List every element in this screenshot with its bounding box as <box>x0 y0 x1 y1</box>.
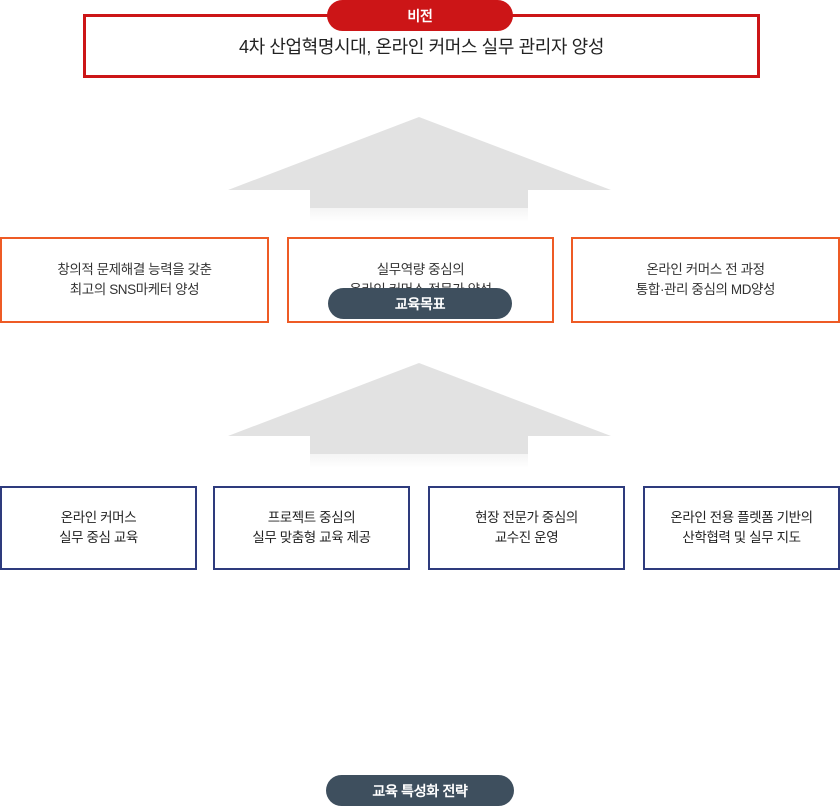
strategy-card-line: 프로젝트 중심의 <box>268 508 356 528</box>
vision-badge-label: 비전 <box>407 6 432 26</box>
strategy-card: 프로젝트 중심의 실무 맞춤형 교육 제공 <box>213 486 410 570</box>
arrow-strategy-badge-label: 교육 특성화 전략 <box>372 781 467 801</box>
vision-badge: 비전 <box>327 0 513 31</box>
strategy-card: 현장 전문가 중심의 교수진 운영 <box>428 486 625 570</box>
strategy-card: 온라인 전용 플렛폼 기반의 산학협력 및 실무 지도 <box>643 486 840 570</box>
vision-section: 4차 산업혁명시대, 온라인 커머스 실무 관리자 양성 비전 <box>0 0 840 100</box>
arrow-goal-badge: 교육목표 <box>328 288 512 319</box>
goal-card: 온라인 커머스 전 과정 통합·관리 중심의 MD양성 <box>571 237 840 323</box>
goal-card-line: 최고의 SNS마케터 양성 <box>70 280 199 300</box>
strategy-card: 온라인 커머스 실무 중심 교육 <box>0 486 197 570</box>
strategy-cards-row: 온라인 커머스 실무 중심 교육 프로젝트 중심의 실무 맞춤형 교육 제공 현… <box>0 486 840 570</box>
strategy-card-line: 온라인 커머스 <box>61 508 136 528</box>
strategy-card-line: 실무 중심 교육 <box>59 528 138 548</box>
goal-card-line: 통합·관리 중심의 MD양성 <box>636 280 775 300</box>
goal-card: 창의적 문제해결 능력을 갖춘 최고의 SNS마케터 양성 <box>0 237 269 323</box>
arrow-goal-block: 교육목표 <box>0 112 840 224</box>
vision-title: 4차 산업혁명시대, 온라인 커머스 실무 관리자 양성 <box>239 33 604 59</box>
strategy-card-line: 현장 전문가 중심의 <box>475 508 578 528</box>
goal-card-line: 창의적 문제해결 능력을 갖춘 <box>57 260 211 280</box>
strategy-card-line: 온라인 전용 플렛폼 기반의 <box>670 508 812 528</box>
arrow-goal-badge-label: 교육목표 <box>395 294 445 314</box>
strategy-card-line: 실무 맞춤형 교육 제공 <box>252 528 370 548</box>
goal-card-line: 실무역량 중심의 <box>377 260 465 280</box>
arrow-strategy-badge: 교육 특성화 전략 <box>326 775 514 806</box>
strategy-card-line: 산학협력 및 실무 지도 <box>682 528 800 548</box>
up-arrow-icon <box>0 358 840 468</box>
goal-card-line: 온라인 커머스 전 과정 <box>646 260 764 280</box>
strategy-card-line: 교수진 운영 <box>495 528 558 548</box>
arrow-strategy-block: 교육 특성화 전략 <box>0 358 840 470</box>
up-arrow-icon <box>0 112 840 222</box>
